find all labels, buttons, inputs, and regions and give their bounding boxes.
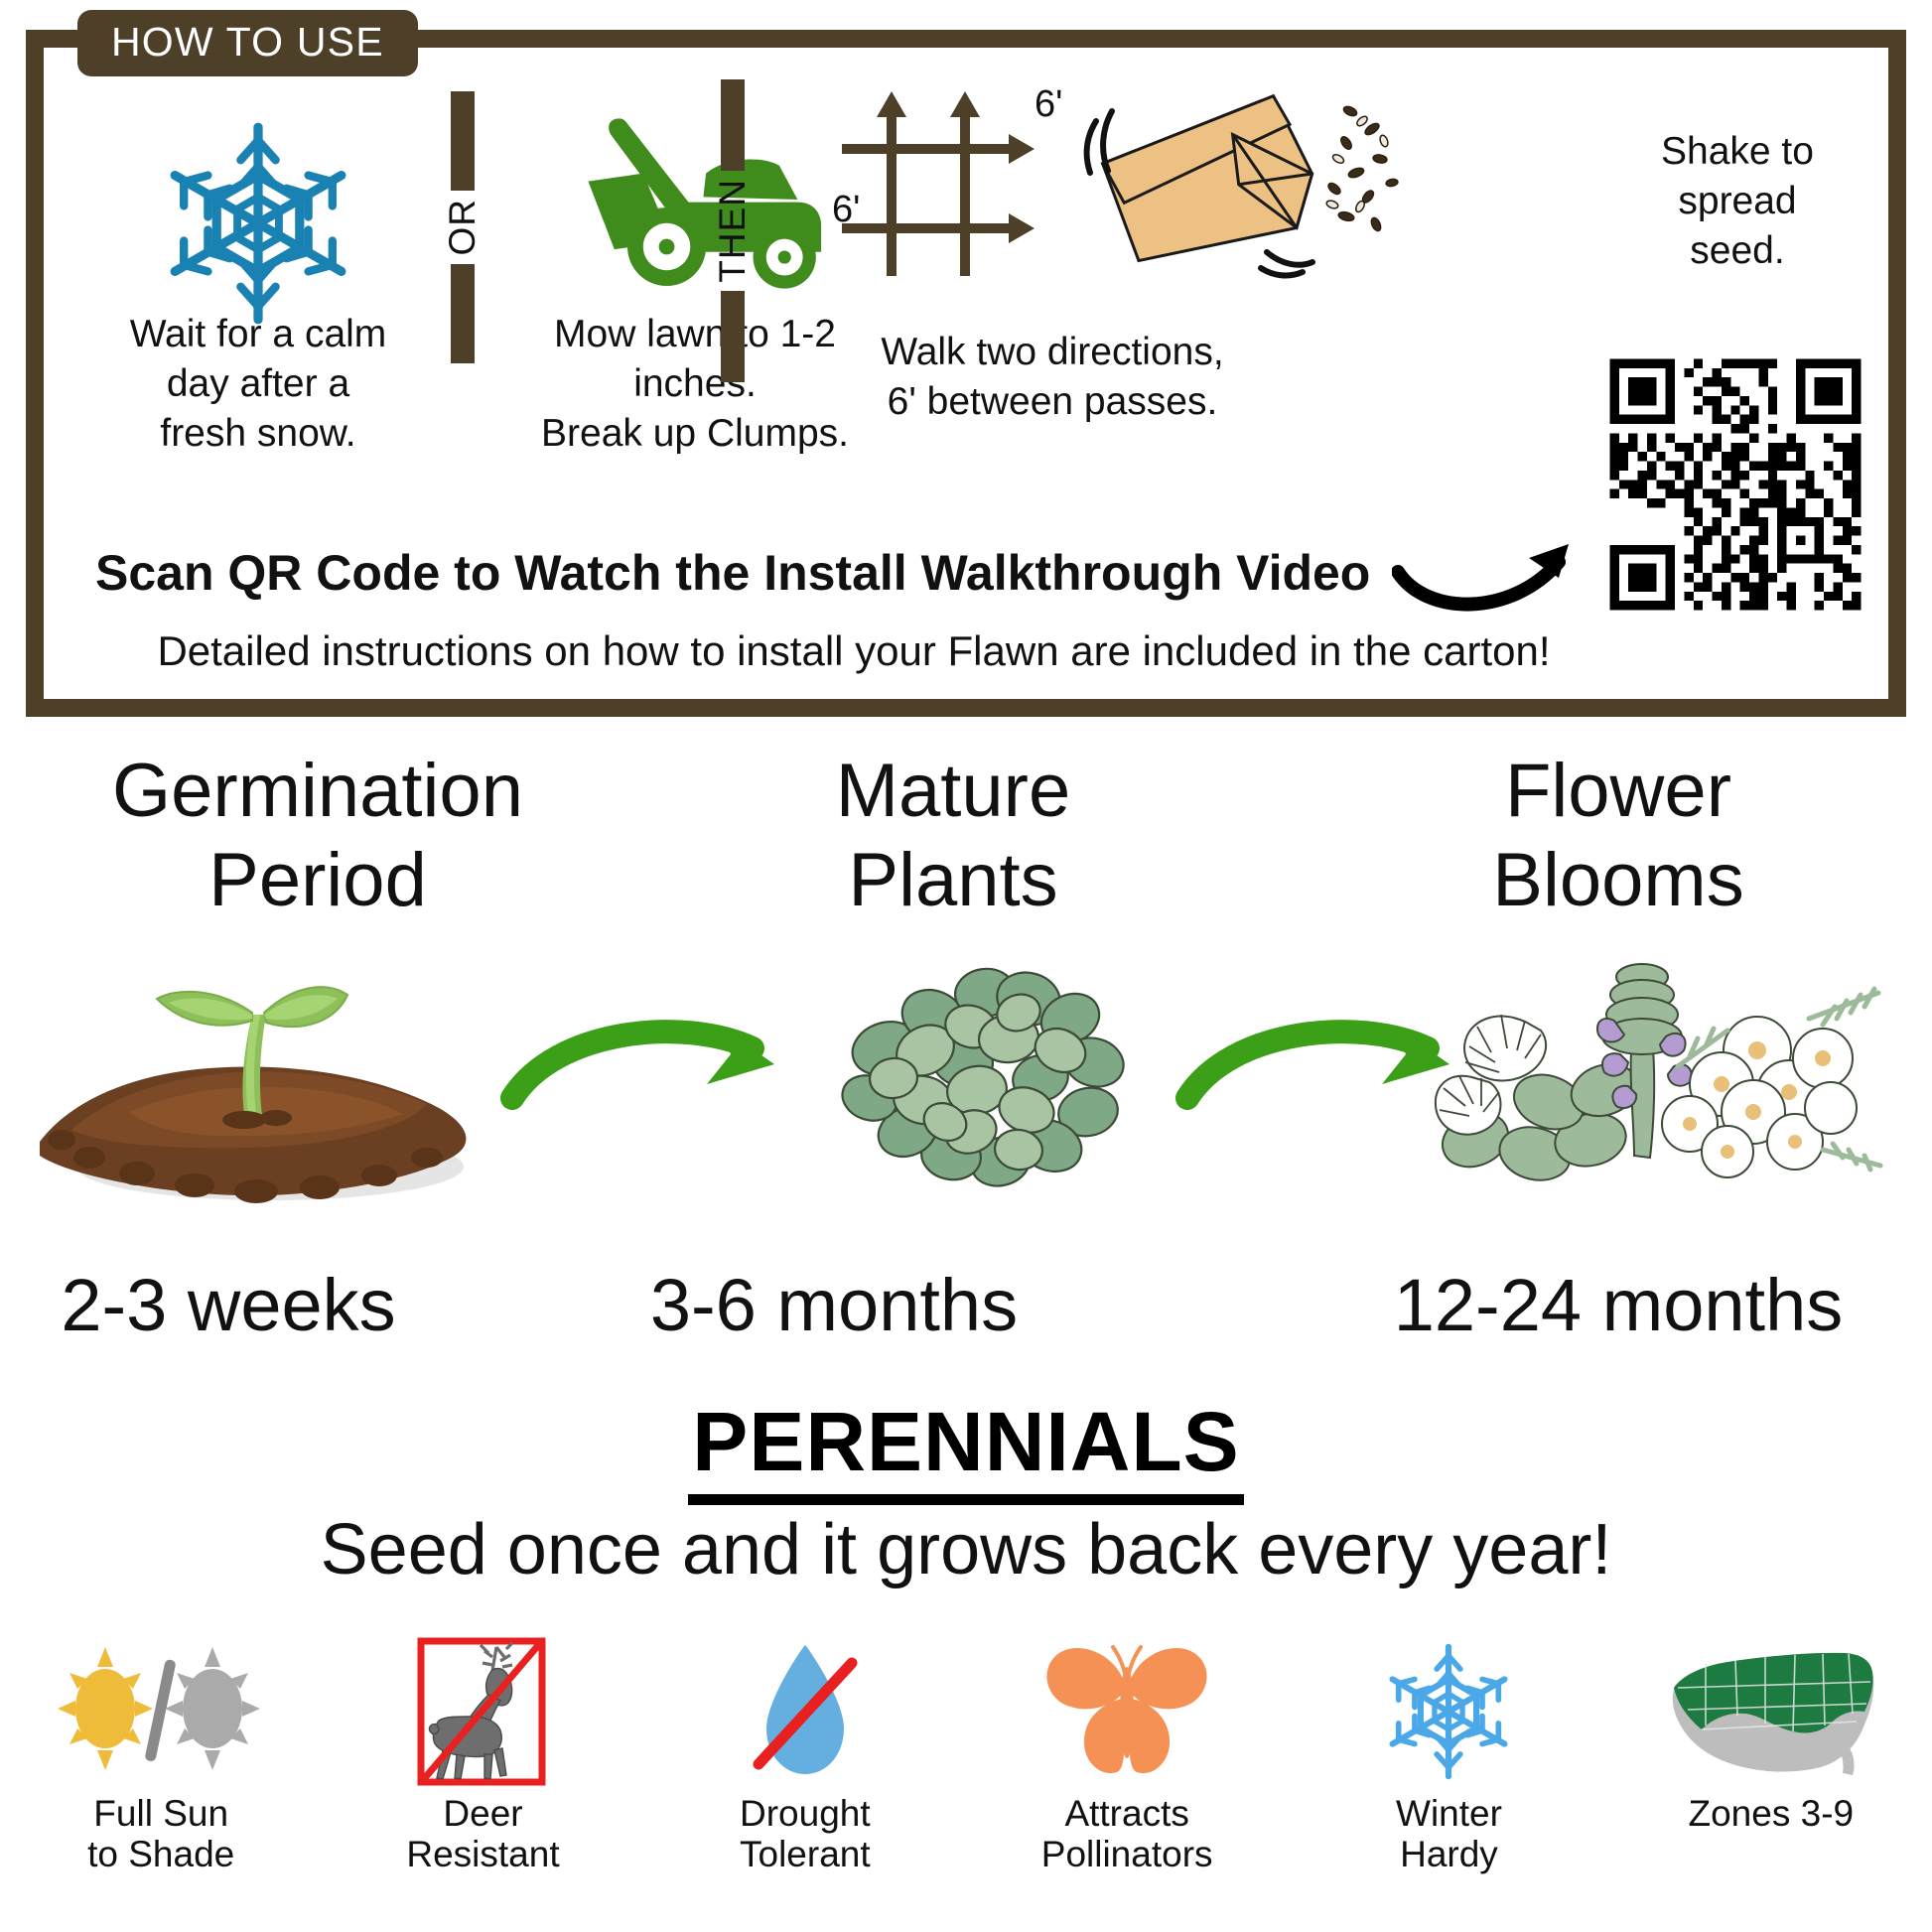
stage-title-mature: Mature Plants [645,747,1261,924]
seedling-in-soil-image [10,953,506,1211]
separator-then-label: THEN [712,171,754,291]
feature-row: Full Sun to Shade [0,1636,1932,1932]
infographic-page: HOW TO USE [0,0,1932,1932]
separator-or: OR [451,91,475,389]
stage-time-germination: 2-3 weeks [10,1263,447,1347]
feature-attracts-pollinators: Attracts Pollinators [966,1636,1288,1932]
stage-title-germination: Germination Period [10,747,625,924]
walking-pattern-diagram [824,77,1062,286]
deer-resistant-icon [393,1636,572,1787]
snowflake-icon [1375,1636,1522,1787]
flower-blooms-image [1430,945,1896,1211]
stage-title-flower: Flower Blooms [1311,747,1926,924]
feature-full-sun-to-shade: Full Sun to Shade [0,1636,322,1932]
diagram-label-left: 6' [832,189,860,231]
feature-label-attracts-pollinators: Attracts Pollinators [1041,1793,1213,1875]
butterfly-icon [1028,1636,1226,1787]
how-to-use-tab-label: HOW TO USE [77,10,418,76]
snowflake-icon [109,109,407,338]
feature-deer-resistant: Deer Resistant [322,1636,643,1932]
stage-time-flower: 12-24 months [1311,1263,1926,1347]
sun-shade-icon [44,1636,278,1787]
feature-label-winter-hardy: Winter Hardy [1396,1793,1502,1875]
perennials-subheading: Seed once and it grows back every year! [0,1509,1932,1590]
lawn-mower-icon [516,94,854,313]
qr-headline: Scan QR Code to Watch the Install Walkth… [95,544,1370,602]
feature-label-deer-resistant: Deer Resistant [406,1793,559,1875]
mature-plants-image [814,951,1162,1209]
feature-label-zones: Zones 3-9 [1689,1793,1855,1834]
feature-zones: Zones 3-9 [1610,1636,1932,1932]
feature-winter-hardy: Winter Hardy [1288,1636,1609,1932]
perennials-heading: PERENNIALS [0,1394,1932,1490]
feature-drought-tolerant: Drought Tolerant [644,1636,966,1932]
perennials-heading-text: PERENNIALS [688,1395,1243,1505]
stage-arrow-1-icon [486,1003,804,1132]
qr-code[interactable] [1600,349,1870,620]
howto-step-caption-1: Wait for a calm day after a fresh snow. [60,310,457,459]
feature-label-full-sun-to-shade: Full Sun to Shade [87,1793,234,1875]
howto-step-caption-4: Shake to spread seed. [1588,127,1886,276]
usa-map-icon [1658,1636,1884,1787]
howto-step-caption-3: Walk two directions, 6' between passes. [784,328,1320,427]
seed-bag-shake-icon [1052,77,1430,296]
curved-arrow-to-qr-icon [1392,524,1610,633]
feature-label-drought-tolerant: Drought Tolerant [740,1793,871,1875]
stage-time-mature: 3-6 months [586,1263,1082,1347]
qr-subline: Detailed instructions on how to install … [79,627,1628,675]
separator-then: THEN [721,79,745,397]
separator-or-label: OR [442,191,483,264]
drought-tolerant-icon [741,1636,870,1787]
